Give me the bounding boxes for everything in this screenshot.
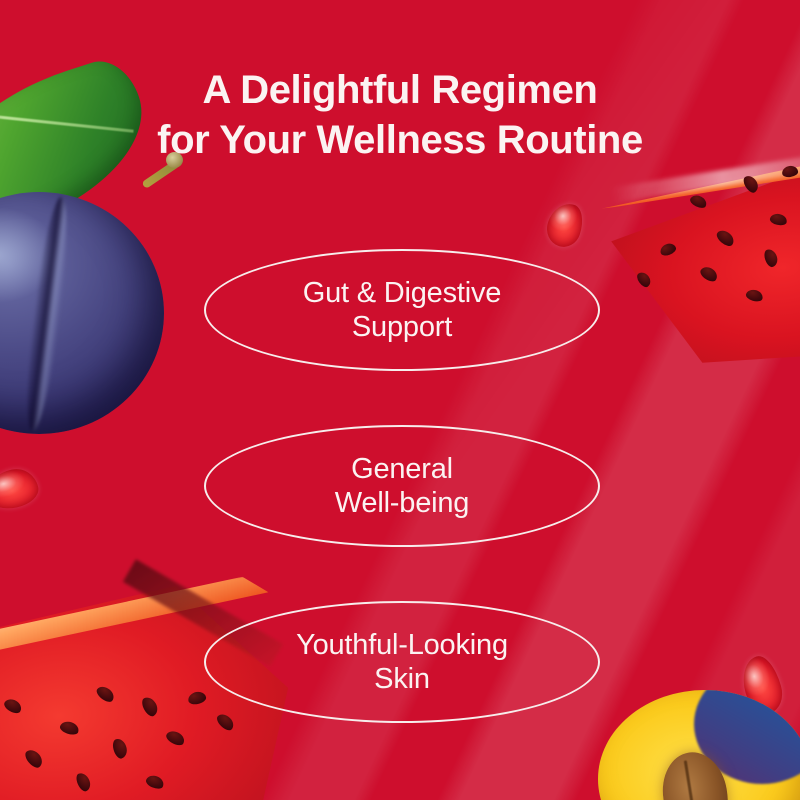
benefit-oval-youthful-looking-skin[interactable]: Youthful-Looking Skin (204, 601, 600, 723)
promo-graphic: A Delightful Regimen for Your Wellness R… (0, 0, 800, 800)
benefit-label: Youthful-Looking Skin (296, 628, 508, 696)
benefit-oval-gut-digestive-support[interactable]: Gut & Digestive Support (204, 249, 600, 371)
benefit-label: Gut & Digestive Support (303, 276, 501, 344)
benefit-oval-general-well-being[interactable]: General Well-being (204, 425, 600, 547)
page-title: A Delightful Regimen for Your Wellness R… (0, 66, 800, 165)
benefit-label: General Well-being (335, 452, 469, 520)
